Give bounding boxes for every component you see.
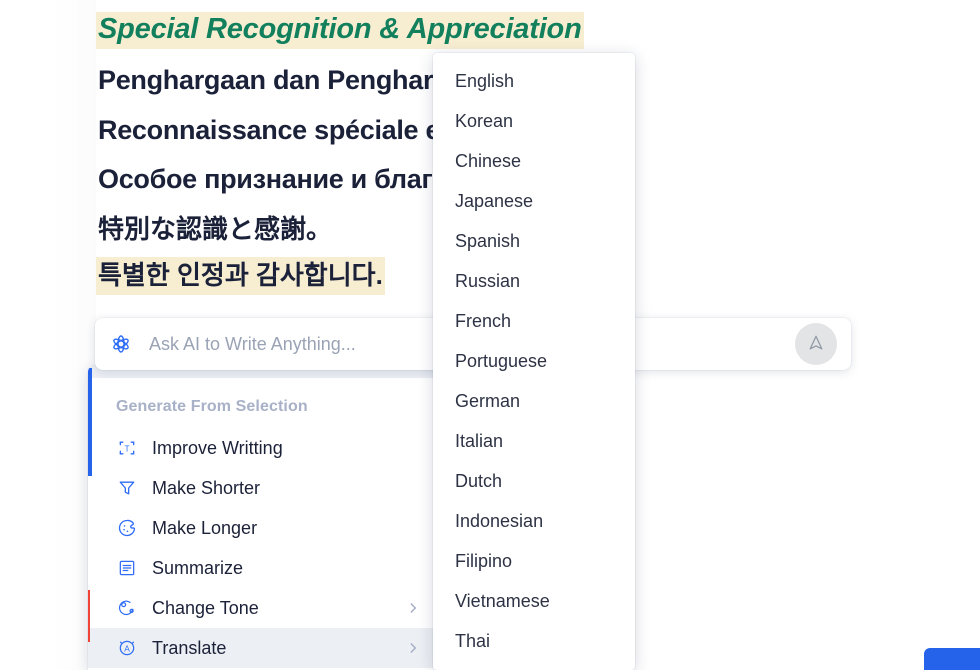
document-line-korean: 특별한 인정과 감사합니다.	[96, 257, 385, 295]
menu-item-label: Summarize	[152, 558, 421, 579]
language-option-russian[interactable]: Russian	[433, 261, 635, 301]
language-option-spanish[interactable]: Spanish	[433, 221, 635, 261]
menu-item-make-shorter[interactable]: Make Shorter	[88, 468, 435, 508]
bottom-right-blue-chip[interactable]	[924, 648, 980, 670]
language-option-french[interactable]: French	[433, 301, 635, 341]
language-option-japanese[interactable]: Japanese	[433, 181, 635, 221]
menu-item-improve-writing[interactable]: T Improve Writting	[88, 428, 435, 468]
svg-text:A: A	[124, 643, 130, 653]
funnel-icon	[116, 477, 138, 499]
chevron-right-icon	[405, 600, 421, 616]
translate-circle-icon: A	[116, 637, 138, 659]
page-left-margin	[0, 0, 96, 670]
language-option-filipino[interactable]: Filipino	[433, 541, 635, 581]
generate-menu-title: Generate From Selection	[116, 398, 308, 416]
expand-blob-icon	[116, 517, 138, 539]
language-option-dutch[interactable]: Dutch	[433, 461, 635, 501]
tone-nodes-icon	[116, 597, 138, 619]
language-option-indonesian[interactable]: Indonesian	[433, 501, 635, 541]
menu-accent-bar-blue	[88, 368, 92, 476]
ai-sparkle-icon	[109, 332, 133, 356]
language-option-chinese[interactable]: Chinese	[433, 141, 635, 181]
menu-item-summarize[interactable]: Summarize	[88, 548, 435, 588]
app-canvas: of its most visible ognize the have assi…	[0, 0, 980, 670]
menu-item-translate[interactable]: A Translate	[88, 628, 435, 668]
list-document-icon	[116, 557, 138, 579]
document-heading-row: Special Recognition & Appreciation	[96, 12, 584, 49]
generate-from-selection-menu: Generate From Selection T Improve Writti…	[88, 366, 435, 670]
ai-send-button[interactable]	[795, 323, 837, 365]
menu-item-change-tone[interactable]: Change Tone	[88, 588, 435, 628]
language-option-vietnamese[interactable]: Vietnamese	[433, 581, 635, 621]
generate-menu-list: T Improve Writting Make Shorter	[88, 428, 435, 668]
page-title: Special Recognition & Appreciation	[96, 12, 584, 49]
language-option-english[interactable]: English	[433, 61, 635, 101]
improve-writing-icon: T	[116, 437, 138, 459]
language-option-thai[interactable]: Thai	[433, 621, 635, 661]
language-option-german[interactable]: German	[433, 381, 635, 421]
translate-language-submenu: English Korean Chinese Japanese Spanish …	[433, 53, 635, 670]
menu-item-label: Make Longer	[152, 518, 421, 539]
menu-item-label: Translate	[152, 638, 405, 659]
send-paper-plane-icon	[806, 333, 826, 356]
svg-text:T: T	[124, 443, 129, 453]
menu-item-label: Change Tone	[152, 598, 405, 619]
document-line-text: 특별한 인정과 감사합니다.	[96, 257, 385, 295]
language-option-italian[interactable]: Italian	[433, 421, 635, 461]
language-option-portuguese[interactable]: Portuguese	[433, 341, 635, 381]
menu-item-make-longer[interactable]: Make Longer	[88, 508, 435, 548]
menu-accent-bar-red	[88, 590, 90, 642]
menu-item-label: Improve Writting	[152, 438, 421, 459]
menu-item-label: Make Shorter	[152, 478, 421, 499]
chevron-right-icon	[405, 640, 421, 656]
document-line-japanese: 特別な認識と感謝。	[96, 211, 334, 249]
language-option-korean[interactable]: Korean	[433, 101, 635, 141]
document-line-text: 特別な認識と感謝。	[96, 211, 334, 249]
